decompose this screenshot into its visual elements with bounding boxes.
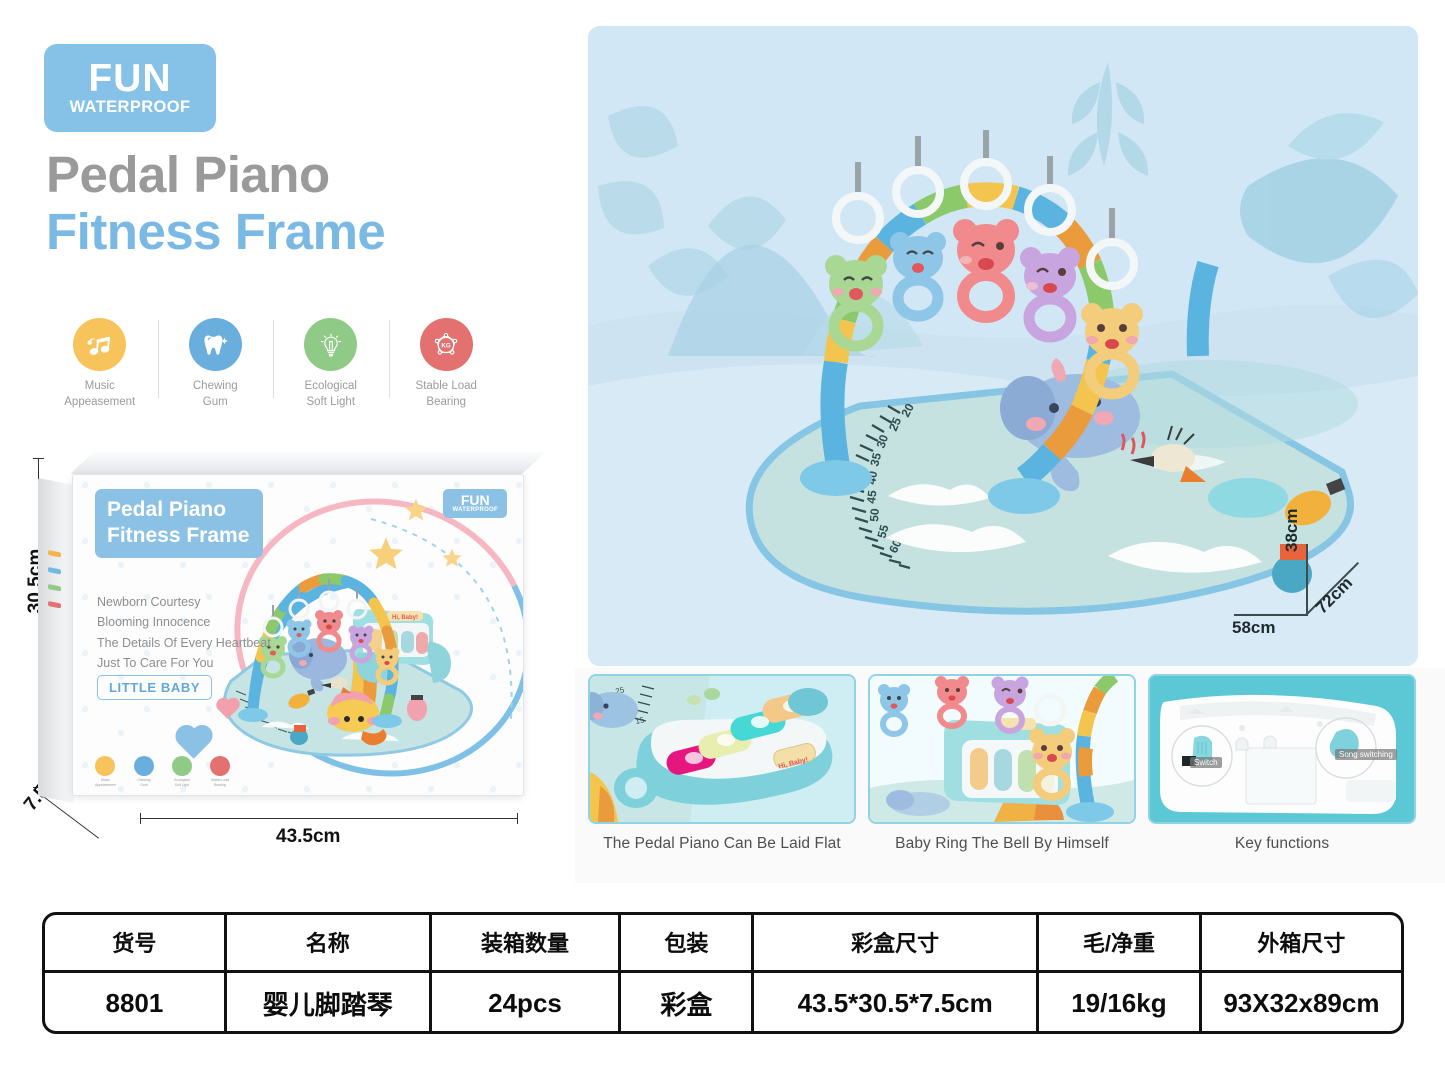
thumbnail-caption: Baby Ring The Bell By Himself <box>868 835 1136 853</box>
thumbnail-key-functions[interactable]: Switch Song switching Key functions <box>1148 674 1416 853</box>
load-circle-mini <box>210 756 230 776</box>
package-mini-features: Music Appeasement Chewing Gum Ecological… <box>95 756 230 787</box>
value-cell: 彩盒 <box>620 971 753 1034</box>
value-cell: 43.5*30.5*7.5cm <box>753 971 1038 1034</box>
hero-depth-label: 72cm <box>1312 573 1357 618</box>
music-circle-mini <box>95 756 115 776</box>
thumbnail-ring-bell[interactable]: Baby Ring The Bell By Himself <box>868 674 1136 853</box>
header-cell: 毛/净重 <box>1038 915 1201 971</box>
feature-list: Music Appeasement Chewing Gum <box>42 318 504 418</box>
load-circle: KG <box>420 318 473 371</box>
product-listing-page: FUN WATERPROOF Pedal Piano Fitness Frame <box>0 0 1445 1085</box>
mini-feature: Music Appeasement <box>95 756 116 787</box>
music-circle <box>73 318 126 371</box>
hero-dimensions: 38cm 58cm 72cm <box>1206 536 1366 646</box>
hero-width-line <box>1234 614 1308 616</box>
spec-table-grid: 货号 名称 装箱数量 包装 彩盒尺寸 毛/净重 外箱尺寸 8801 婴儿脚踏琴 … <box>45 915 1401 1034</box>
feature-label: Stable Load Bearing <box>416 379 477 410</box>
svg-text:Hi, Baby!: Hi, Baby! <box>392 615 418 621</box>
box-side-face <box>38 478 74 803</box>
thumbnail-image[interactable] <box>868 674 1136 824</box>
header-cell: 彩盒尺寸 <box>753 915 1038 971</box>
light-bulb-icon <box>316 330 346 360</box>
value-cell: 19/16kg <box>1038 971 1201 1034</box>
specification-table: 货号 名称 装箱数量 包装 彩盒尺寸 毛/净重 外箱尺寸 8801 婴儿脚踏琴 … <box>42 912 1404 1034</box>
mini-feature-label: Chewing Gum <box>134 778 154 787</box>
package-title-box: Pedal Piano Fitness Frame <box>95 489 263 558</box>
switch-chip: Switch <box>1190 757 1222 768</box>
ruler-tick-label: 50 <box>867 508 882 523</box>
arch-foot-rear <box>1208 478 1288 518</box>
mini-feature-label: Stable Load Bearing <box>210 778 230 787</box>
thumbnail-image[interactable]: Switch Song switching <box>1148 674 1416 824</box>
hero-height-line <box>1306 544 1308 616</box>
rainbow-arch-rear <box>1198 264 1208 356</box>
bulb-circle-mini <box>172 756 192 776</box>
thumbnail-caption: The Pedal Piano Can Be Laid Flat <box>588 835 856 853</box>
value-cell: 24pcs <box>430 971 620 1034</box>
thumbnail-caption: Key functions <box>1148 835 1416 853</box>
tooth-circle <box>189 318 242 371</box>
svg-text:KG: KG <box>442 342 451 349</box>
mini-feature-label: Music Appeasement <box>95 778 116 787</box>
thumbnail-pedal-piano-flat[interactable]: 25 20 15 <box>588 674 856 853</box>
arch-foot-right <box>988 478 1060 514</box>
load-bearing-icon: KG <box>431 330 461 360</box>
baby-ring-bell-art <box>870 676 1134 822</box>
title-line-2: Fitness Frame <box>46 203 546 260</box>
package-title-line-1: Pedal Piano <box>107 497 249 523</box>
little-baby-tag: LITTLE BABY <box>97 675 212 700</box>
hero-height-label: 38cm <box>1282 509 1302 552</box>
package-box-illustration: 30.5cm 7.5cm 43.5cm <box>8 440 568 860</box>
value-cell: 93X32x89cm <box>1200 971 1401 1034</box>
package-fun-badge: FUN WATERPROOF <box>443 489 507 518</box>
box-front-face: Hi, Baby! <box>72 474 524 796</box>
tooth-circle-mini <box>134 756 154 776</box>
feature-music: Music Appeasement <box>42 318 158 410</box>
package-fun-text: FUN <box>452 493 498 507</box>
mini-feature: Stable Load Bearing <box>210 756 230 787</box>
star-icon <box>403 497 429 523</box>
table-value-row: 8801 婴儿脚踏琴 24pcs 彩盒 43.5*30.5*7.5cm 19/1… <box>45 971 1401 1034</box>
header-cell: 外箱尺寸 <box>1200 915 1401 971</box>
header-cell: 名称 <box>225 915 430 971</box>
thumbnail-image[interactable]: 25 20 15 <box>588 674 856 824</box>
ruler-tick-label: 45 <box>864 489 879 504</box>
page-title: Pedal Piano Fitness Frame <box>46 146 546 260</box>
feature-chewing: Chewing Gum <box>158 318 274 410</box>
box-top-face <box>70 452 546 474</box>
left-info-column: FUN WATERPROOF Pedal Piano Fitness Frame <box>0 0 575 890</box>
music-note-icon <box>86 331 114 359</box>
header-cell: 装箱数量 <box>430 915 620 971</box>
feature-label: Ecological Soft Light <box>305 379 357 410</box>
box-spine-stripes <box>48 550 61 743</box>
package-width-label: 43.5cm <box>276 826 340 848</box>
package-tagline: Newborn Courtesy Blooming Innocence The … <box>97 592 271 673</box>
tooth-icon <box>201 331 229 359</box>
badge-waterproof-text: WATERPROOF <box>69 98 190 116</box>
feature-label: Chewing Gum <box>193 379 238 410</box>
hero-width-label: 58cm <box>1232 618 1275 638</box>
song-switching-chip: Song switching <box>1335 749 1397 760</box>
header-cell: 包装 <box>620 915 753 971</box>
package-waterproof-text: WATERPROOF <box>452 507 498 513</box>
package-title-line-2: Fitness Frame <box>107 523 249 549</box>
value-cell: 婴儿脚踏琴 <box>225 971 430 1034</box>
bulb-circle <box>304 318 357 371</box>
mini-feature: Chewing Gum <box>134 756 154 787</box>
fun-waterproof-badge: FUN WATERPROOF <box>44 44 216 132</box>
mini-feature-label: Ecological Soft Light <box>172 778 192 787</box>
arch-foot-left <box>800 460 872 496</box>
feature-ecological: Ecological Soft Light <box>273 318 389 410</box>
title-line-1: Pedal Piano <box>46 146 546 203</box>
mini-feature: Ecological Soft Light <box>172 756 192 787</box>
feature-load: KG Stable Load Bearing <box>389 318 505 410</box>
table-header-row: 货号 名称 装箱数量 包装 彩盒尺寸 毛/净重 外箱尺寸 <box>45 915 1401 971</box>
header-cell: 货号 <box>45 915 225 971</box>
package-box-3d: Hi, Baby! <box>38 452 528 822</box>
hero-product-image: 20 25 30 35 40 45 50 55 60 <box>588 26 1418 666</box>
feature-label: Music Appeasement <box>64 379 135 410</box>
value-cell: 8801 <box>45 971 225 1034</box>
badge-fun-text: FUN <box>88 60 171 97</box>
thumbnail-row: 25 20 15 <box>588 674 1416 853</box>
pedal-piano-flat-art: 25 20 15 <box>590 676 854 822</box>
